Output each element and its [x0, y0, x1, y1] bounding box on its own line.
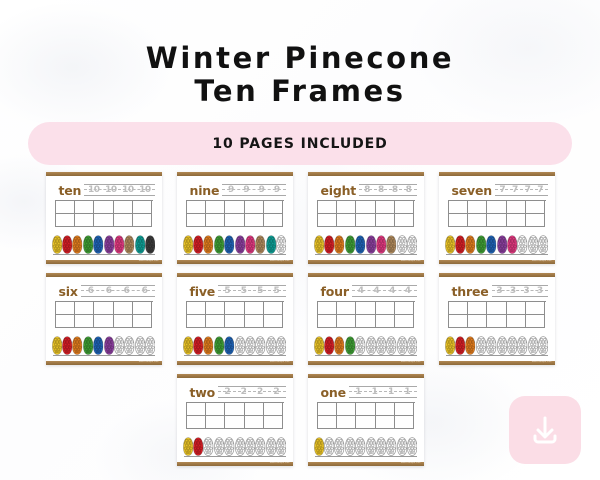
tracing-guide: 10101010 — [84, 184, 154, 196]
card-word-row: one1111 — [315, 384, 417, 399]
number-word: one — [321, 386, 346, 399]
pinecone-outline — [517, 235, 527, 254]
pinecone-colored — [386, 235, 396, 254]
ten-frame-cell[interactable] — [337, 201, 356, 214]
ten-frame-cell[interactable] — [56, 214, 75, 227]
worksheet-card-nine[interactable]: nine9999www.example.com — [177, 172, 293, 264]
pinecone-outline — [124, 336, 134, 355]
ten-frame-cell[interactable] — [487, 201, 506, 214]
pinecone-colored — [93, 235, 103, 254]
ten-frame-cell[interactable] — [245, 302, 264, 315]
ten-frame-cell[interactable] — [187, 416, 206, 429]
pinecone-outline — [276, 336, 286, 355]
pinecone-colored — [214, 235, 224, 254]
ten-frame-cell[interactable] — [526, 302, 545, 315]
pinecone-colored — [72, 336, 82, 355]
ten-frame-cell[interactable] — [468, 315, 487, 328]
pinecone-outline — [334, 437, 344, 456]
ten-frame-cell[interactable] — [264, 214, 283, 227]
pinecone-row — [53, 334, 155, 356]
ten-frame-cell[interactable] — [75, 214, 94, 227]
tracing-ghost-numerals: 7777 — [496, 184, 547, 196]
ten-frame-cell[interactable] — [206, 201, 225, 214]
card-watermark: www.example.com — [401, 360, 421, 365]
card-word-row: four4444 — [315, 283, 417, 298]
worksheet-card-four[interactable]: four4444www.example.com — [308, 273, 424, 365]
pinecone-colored — [266, 235, 276, 254]
pinecone-outline — [255, 437, 265, 456]
card-body: eight8888 — [308, 176, 424, 260]
ten-frame-cell[interactable] — [264, 416, 283, 429]
ten-frame-cell[interactable] — [94, 302, 113, 315]
ten-frame-cell[interactable] — [468, 214, 487, 227]
tracing-guide: 4444 — [352, 285, 417, 297]
pinecone-outline — [235, 336, 245, 355]
ten-frame-cell[interactable] — [376, 416, 395, 429]
ghost-numeral: 5 — [224, 286, 230, 297]
ten-frame-cell[interactable] — [56, 302, 75, 315]
card-watermark: www.example.com — [270, 259, 290, 264]
tracing-guide: 3333 — [492, 285, 548, 297]
card-watermark: www.example.com — [401, 259, 421, 264]
ghost-numeral: 8 — [392, 185, 398, 196]
ghost-numeral: 6 — [88, 286, 94, 297]
pinecone-outline — [245, 437, 255, 456]
pinecone-outline — [235, 437, 245, 456]
ten-frame-cell[interactable] — [187, 315, 206, 328]
card-body: five5555 — [177, 277, 293, 361]
ghost-numeral: 1 — [404, 387, 410, 398]
ten-frame-cell[interactable] — [318, 302, 337, 315]
ten-frame-cell[interactable] — [449, 214, 468, 227]
pinecone-outline — [407, 437, 417, 456]
ghost-numeral: 1 — [372, 387, 378, 398]
ghost-numeral: 10 — [88, 185, 100, 196]
worksheet-card-eight[interactable]: eight8888www.example.com — [308, 172, 424, 264]
ten-frame-cell[interactable] — [376, 214, 395, 227]
pinecone-outline — [266, 437, 276, 456]
ten-frame-cell[interactable] — [395, 201, 414, 214]
pinecone-outline — [528, 336, 538, 355]
ten-frame-cell[interactable] — [94, 315, 113, 328]
pinecone-colored — [345, 235, 355, 254]
ten-frame-cell[interactable] — [526, 214, 545, 227]
card-body: six6666 — [46, 277, 162, 361]
pinecone-colored — [355, 235, 365, 254]
ten-frame — [317, 301, 415, 328]
card-body: two2222 — [177, 378, 293, 462]
tracing-guide: 2222 — [218, 386, 285, 398]
pinecone-colored — [455, 235, 465, 254]
ghost-numeral: 8 — [364, 185, 370, 196]
card-body: ten10101010 — [46, 176, 162, 260]
ten-frame-cell[interactable] — [56, 201, 75, 214]
pinecone-colored — [366, 235, 376, 254]
ten-frame-cell[interactable] — [206, 403, 225, 416]
card-word-row: nine9999 — [184, 182, 286, 197]
pinecone-colored — [324, 336, 334, 355]
ten-frame-cell[interactable] — [507, 315, 526, 328]
pinecone-colored — [445, 336, 455, 355]
ten-frame-cell[interactable] — [225, 302, 244, 315]
ten-frame-cell[interactable] — [75, 315, 94, 328]
ghost-numeral: 9 — [228, 185, 234, 196]
ten-frame-cell[interactable] — [318, 201, 337, 214]
ten-frame-cell[interactable] — [245, 403, 264, 416]
pages-included-label: 10 PAGES INCLUDED — [212, 136, 387, 152]
pinecone-colored — [193, 336, 203, 355]
tracing-guide: 9999 — [222, 184, 285, 196]
ghost-numeral: 4 — [405, 286, 411, 297]
ghost-numeral: 4 — [373, 286, 379, 297]
pinecone-outline — [376, 336, 386, 355]
ten-frame-cell[interactable] — [356, 201, 375, 214]
pinecone-outline — [203, 437, 213, 456]
worksheet-card-seven[interactable]: seven7777www.example.com — [439, 172, 555, 264]
ten-frame-cell[interactable] — [468, 302, 487, 315]
card-body: three3333 — [439, 277, 555, 361]
ten-frame — [317, 402, 415, 429]
pinecone-colored — [104, 336, 114, 355]
ghost-numeral: 2 — [257, 387, 263, 398]
pinecone-outline — [497, 336, 507, 355]
ten-frame-cell[interactable] — [245, 315, 264, 328]
pinecone-outline — [255, 336, 265, 355]
ten-frame — [317, 200, 415, 227]
worksheet-card-three[interactable]: three3333www.example.com — [439, 273, 555, 365]
ten-frame-cell[interactable] — [75, 302, 94, 315]
ten-frame-cell[interactable] — [114, 214, 133, 227]
number-word: five — [190, 285, 216, 298]
card-bottom-bar: www.example.com — [46, 361, 162, 365]
ghost-numeral: 3 — [510, 286, 516, 297]
number-word: four — [321, 285, 349, 298]
ten-frame-cell[interactable] — [56, 315, 75, 328]
pinecone-colored — [345, 336, 355, 355]
card-body: seven7777 — [439, 176, 555, 260]
ten-frame-cell[interactable] — [133, 302, 152, 315]
ten-frame-cell[interactable] — [449, 302, 468, 315]
pinecone-colored — [62, 336, 72, 355]
ten-frame-cell[interactable] — [94, 214, 113, 227]
pinecone-colored — [334, 336, 344, 355]
pinecone-row — [184, 334, 286, 356]
ten-frame-cell[interactable] — [526, 201, 545, 214]
pinecone-colored — [83, 235, 93, 254]
card-word-row: ten10101010 — [53, 182, 155, 197]
pinecone-colored — [124, 235, 134, 254]
ten-frame-cell[interactable] — [337, 214, 356, 227]
ghost-numeral: 5 — [273, 286, 279, 297]
number-word: two — [190, 386, 216, 399]
pinecone-row — [184, 435, 286, 457]
title-line-1: Winter Pinecone — [0, 42, 600, 75]
pinecone-outline — [386, 336, 396, 355]
pinecone-outline — [114, 336, 124, 355]
ten-frame-cell[interactable] — [245, 214, 264, 227]
pinecone-colored — [314, 336, 324, 355]
pinecone-colored — [314, 437, 324, 456]
pinecone-colored — [455, 336, 465, 355]
pinecone-colored — [93, 336, 103, 355]
card-watermark: www.example.com — [532, 259, 552, 264]
ten-frame-cell[interactable] — [225, 201, 244, 214]
number-word: nine — [190, 184, 220, 197]
ten-frame-cell[interactable] — [114, 201, 133, 214]
ten-frame-cell[interactable] — [225, 403, 244, 416]
ten-frame-cell[interactable] — [318, 403, 337, 416]
ten-frame-cell[interactable] — [395, 214, 414, 227]
pinecone-outline — [266, 336, 276, 355]
ten-frame-cell[interactable] — [376, 315, 395, 328]
pinecone-colored — [224, 235, 234, 254]
pinecone-colored — [445, 235, 455, 254]
ghost-numeral: 9 — [259, 185, 265, 196]
pinecone-row — [446, 334, 548, 356]
pinecone-colored — [183, 336, 193, 355]
ghost-numeral: 2 — [241, 387, 247, 398]
card-watermark: www.example.com — [139, 259, 159, 264]
pinecone-colored — [203, 336, 213, 355]
ten-frame-cell[interactable] — [356, 302, 375, 315]
ten-frame-cell[interactable] — [376, 403, 395, 416]
title-line-2: Ten Frames — [0, 75, 600, 108]
ghost-numeral: 10 — [122, 185, 134, 196]
pinecone-colored — [224, 336, 234, 355]
ten-frame-cell[interactable] — [318, 315, 337, 328]
ten-frame-cell[interactable] — [337, 302, 356, 315]
ten-frame-cell[interactable] — [187, 201, 206, 214]
worksheet-card-row: ten10101010www.example.comnine9999www.ex… — [0, 172, 600, 264]
tracing-ghost-numerals: 5555 — [219, 285, 284, 297]
ten-frame-cell[interactable] — [395, 416, 414, 429]
pinecone-colored — [193, 235, 203, 254]
tracing-guide: 1111 — [349, 386, 417, 398]
ten-frame-cell[interactable] — [94, 201, 113, 214]
ghost-numeral: 1 — [388, 387, 394, 398]
ten-frame-cell[interactable] — [356, 214, 375, 227]
ten-frame — [186, 402, 284, 429]
ten-frame-cell[interactable] — [114, 302, 133, 315]
ten-frame-cell[interactable] — [187, 214, 206, 227]
ten-frame-cell[interactable] — [507, 302, 526, 315]
pinecone-outline — [366, 437, 376, 456]
pinecone-colored — [104, 235, 114, 254]
pinecone-row — [315, 435, 417, 457]
ghost-numeral: 9 — [243, 185, 249, 196]
card-body: four4444 — [308, 277, 424, 361]
ten-frame-cell[interactable] — [133, 201, 152, 214]
ten-frame-cell[interactable] — [356, 403, 375, 416]
download-button[interactable] — [509, 396, 581, 464]
ghost-numeral: 10 — [139, 185, 151, 196]
worksheet-card-one[interactable]: one1111www.example.com — [308, 374, 424, 466]
ten-frame-cell[interactable] — [187, 302, 206, 315]
pinecone-outline — [355, 336, 365, 355]
tracing-ghost-numerals: 6666 — [82, 285, 154, 297]
ghost-numeral: 2 — [273, 387, 279, 398]
card-bottom-bar: www.example.com — [177, 361, 293, 365]
card-bottom-bar: www.example.com — [46, 260, 162, 264]
pinecone-outline — [476, 336, 486, 355]
card-bottom-bar: www.example.com — [439, 260, 555, 264]
ten-frame-cell[interactable] — [318, 214, 337, 227]
worksheet-card-six[interactable]: six6666www.example.com — [46, 273, 162, 365]
ten-frame-cell[interactable] — [206, 214, 225, 227]
pinecone-colored — [507, 235, 517, 254]
ten-frame-cell[interactable] — [264, 315, 283, 328]
pinecone-colored — [203, 235, 213, 254]
number-word: seven — [452, 184, 492, 197]
ten-frame-cell[interactable] — [264, 403, 283, 416]
ten-frame-cell[interactable] — [264, 201, 283, 214]
pinecone-colored — [183, 437, 193, 456]
ghost-numeral: 4 — [389, 286, 395, 297]
pinecone-row — [184, 233, 286, 255]
worksheet-card-five[interactable]: five5555www.example.com — [177, 273, 293, 365]
card-bottom-bar: www.example.com — [308, 260, 424, 264]
ten-frame-cell[interactable] — [114, 315, 133, 328]
ten-frame-cell[interactable] — [187, 403, 206, 416]
ten-frame-cell[interactable] — [356, 416, 375, 429]
ghost-numeral: 8 — [406, 185, 412, 196]
ten-frame-cell[interactable] — [449, 315, 468, 328]
pinecone-outline — [214, 437, 224, 456]
number-word: three — [452, 285, 489, 298]
pinecone-colored — [314, 235, 324, 254]
pinecone-outline — [376, 437, 386, 456]
pinecone-colored — [324, 235, 334, 254]
card-bottom-bar: www.example.com — [177, 260, 293, 264]
pinecone-outline — [224, 437, 234, 456]
pinecone-colored — [486, 235, 496, 254]
ten-frame — [186, 301, 284, 328]
card-bottom-bar: www.example.com — [308, 462, 424, 466]
ten-frame-cell[interactable] — [487, 302, 506, 315]
pinecone-outline — [245, 336, 255, 355]
card-watermark: www.example.com — [139, 360, 159, 365]
download-icon — [528, 413, 562, 447]
ten-frame-cell[interactable] — [337, 403, 356, 416]
ten-frame-cell[interactable] — [225, 214, 244, 227]
ten-frame-cell[interactable] — [395, 302, 414, 315]
ten-frame-cell[interactable] — [133, 214, 152, 227]
pinecone-outline — [366, 336, 376, 355]
ten-frame-cell[interactable] — [507, 201, 526, 214]
pinecone-outline — [507, 336, 517, 355]
ten-frame-cell[interactable] — [487, 315, 506, 328]
ten-frame-cell[interactable] — [468, 201, 487, 214]
ten-frame-cell[interactable] — [245, 416, 264, 429]
ten-frame-cell[interactable] — [376, 302, 395, 315]
card-body: one1111 — [308, 378, 424, 462]
ghost-numeral: 6 — [124, 286, 130, 297]
ghost-numeral: 6 — [142, 286, 148, 297]
pinecone-colored — [245, 235, 255, 254]
ten-frame-cell[interactable] — [449, 201, 468, 214]
pinecone-colored — [376, 235, 386, 254]
pinecone-row — [315, 233, 417, 255]
ten-frame-cell[interactable] — [395, 403, 414, 416]
ten-frame-cell[interactable] — [318, 416, 337, 429]
pinecone-outline — [528, 235, 538, 254]
ten-frame-cell[interactable] — [337, 315, 356, 328]
pinecone-row — [315, 334, 417, 356]
ten-frame-cell[interactable] — [395, 315, 414, 328]
ten-frame-cell[interactable] — [507, 214, 526, 227]
ghost-numeral: 7 — [525, 185, 531, 196]
pinecone-colored — [52, 336, 62, 355]
number-word: eight — [321, 184, 357, 197]
ghost-numeral: 7 — [499, 185, 505, 196]
pinecone-outline — [517, 336, 527, 355]
pinecone-colored — [465, 336, 475, 355]
pinecone-outline — [538, 336, 548, 355]
pinecone-colored — [145, 235, 155, 254]
pinecone-outline — [135, 336, 145, 355]
card-word-row: eight8888 — [315, 182, 417, 197]
pinecone-colored — [114, 235, 124, 254]
ten-frame-cell[interactable] — [206, 315, 225, 328]
ten-frame-cell[interactable] — [376, 201, 395, 214]
ten-frame-cell[interactable] — [337, 416, 356, 429]
ten-frame-cell[interactable] — [75, 201, 94, 214]
card-word-row: three3333 — [446, 283, 548, 298]
ten-frame-cell[interactable] — [526, 315, 545, 328]
ten-frame-cell[interactable] — [206, 302, 225, 315]
ten-frame — [448, 200, 546, 227]
ten-frame-cell[interactable] — [487, 214, 506, 227]
card-body: nine9999 — [177, 176, 293, 260]
ten-frame-cell[interactable] — [225, 315, 244, 328]
ten-frame — [448, 301, 546, 328]
pinecone-colored — [193, 437, 203, 456]
ten-frame-cell[interactable] — [245, 201, 264, 214]
card-watermark: www.example.com — [401, 461, 421, 466]
ghost-numeral: 3 — [523, 286, 529, 297]
pinecone-colored — [72, 235, 82, 254]
tracing-guide: 8888 — [359, 184, 416, 196]
ten-frame-cell[interactable] — [133, 315, 152, 328]
card-watermark: www.example.com — [532, 360, 552, 365]
ten-frame — [186, 200, 284, 227]
tracing-ghost-numerals: 10101010 — [85, 184, 153, 196]
ghost-numeral: 7 — [512, 185, 518, 196]
ghost-numeral: 2 — [224, 387, 230, 398]
pinecone-outline — [145, 336, 155, 355]
worksheet-card-two[interactable]: two2222www.example.com — [177, 374, 293, 466]
pinecone-outline — [324, 437, 334, 456]
pinecone-outline — [407, 336, 417, 355]
ghost-numeral: 6 — [106, 286, 112, 297]
tracing-guide: 7777 — [495, 184, 548, 196]
card-word-row: six6666 — [53, 283, 155, 298]
worksheet-card-ten[interactable]: ten10101010www.example.com — [46, 172, 162, 264]
ten-frame-cell[interactable] — [356, 315, 375, 328]
pinecone-outline — [345, 437, 355, 456]
tracing-ghost-numerals: 2222 — [219, 386, 284, 398]
tracing-ghost-numerals: 8888 — [360, 184, 415, 196]
ghost-numeral: 3 — [537, 286, 543, 297]
ten-frame-cell[interactable] — [225, 416, 244, 429]
card-word-row: seven7777 — [446, 182, 548, 197]
pinecone-colored — [497, 235, 507, 254]
ten-frame-cell[interactable] — [264, 302, 283, 315]
ten-frame-cell[interactable] — [206, 416, 225, 429]
pinecone-outline — [538, 235, 548, 254]
tracing-guide: 6666 — [81, 285, 155, 297]
pages-included-banner: 10 PAGES INCLUDED — [28, 122, 572, 165]
